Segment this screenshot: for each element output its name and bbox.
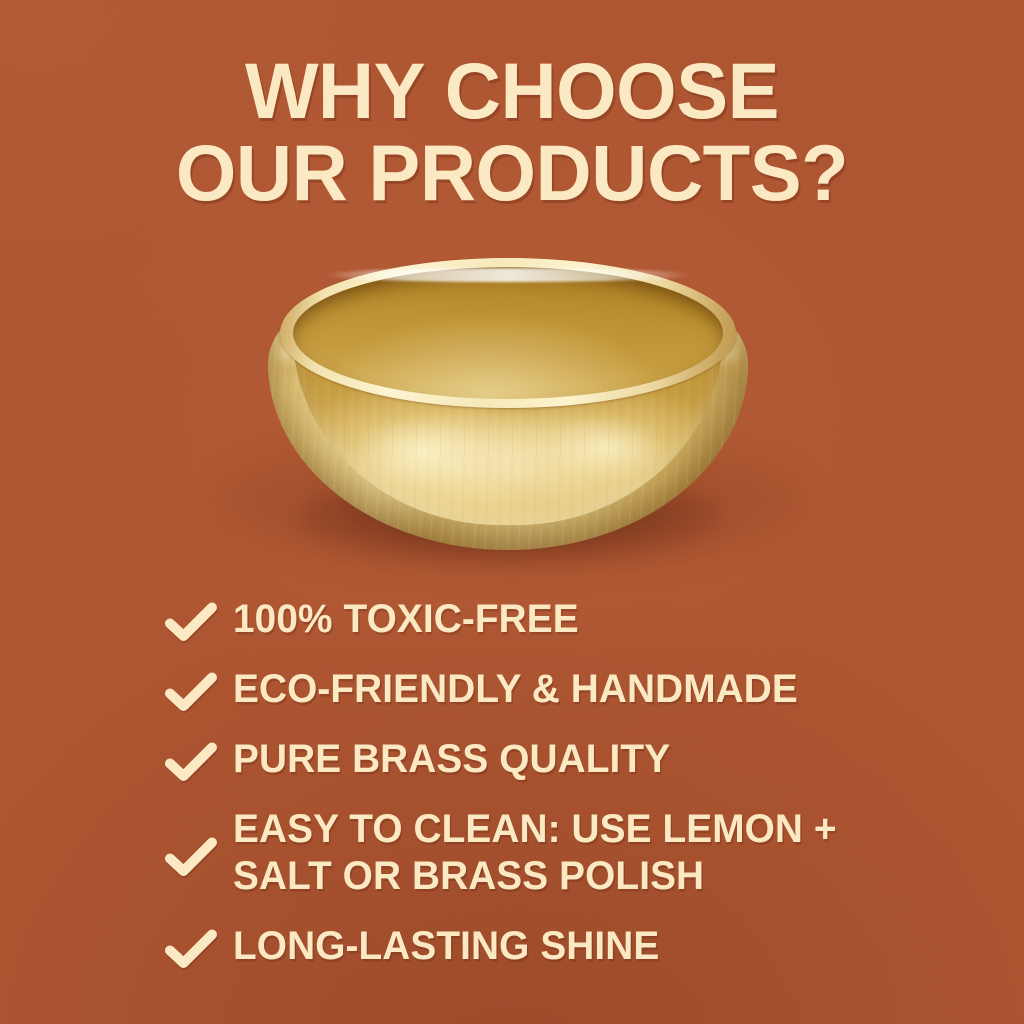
checkmark-icon: [163, 834, 219, 878]
list-item-label: PURE BRASS QUALITY: [233, 736, 670, 783]
checkmark-icon: [163, 669, 219, 713]
list-item: ECO-FRIENDLY & HANDMADE: [163, 666, 963, 713]
list-item-label: ECO-FRIENDLY & HANDMADE: [233, 666, 798, 713]
list-item-label: EASY TO CLEAN: USE LEMON + SALT OR BRASS…: [233, 806, 837, 900]
page-title: WHY CHOOSE OUR PRODUCTS?: [8, 50, 1017, 214]
list-item: PURE BRASS QUALITY: [163, 736, 963, 783]
benefits-list: 100% TOXIC-FREE ECO-FRIENDLY & HANDMADE …: [163, 596, 963, 970]
list-item-label: LONG-LASTING SHINE: [233, 923, 659, 970]
bowl-rim-sheen: [323, 268, 693, 282]
list-item: EASY TO CLEAN: USE LEMON + SALT OR BRASS…: [163, 806, 963, 900]
page-title-line-1: WHY CHOOSE: [8, 50, 1017, 132]
checkmark-icon: [163, 739, 219, 783]
checkmark-icon: [163, 926, 219, 970]
brass-bowl-photo: [268, 258, 748, 558]
list-item-label: 100% TOXIC-FREE: [233, 596, 579, 643]
list-item: LONG-LASTING SHINE: [163, 923, 963, 970]
promo-graphic: WHY CHOOSE OUR PRODUCTS? 100% TOXI: [0, 0, 1024, 1024]
bowl-interior-highlight: [353, 411, 663, 514]
bowl-rim: [280, 258, 736, 408]
page-title-line-2: OUR PRODUCTS?: [8, 132, 1017, 214]
bowl-rim-opening: [293, 267, 723, 399]
checkmark-icon: [163, 599, 219, 643]
list-item: 100% TOXIC-FREE: [163, 596, 963, 643]
